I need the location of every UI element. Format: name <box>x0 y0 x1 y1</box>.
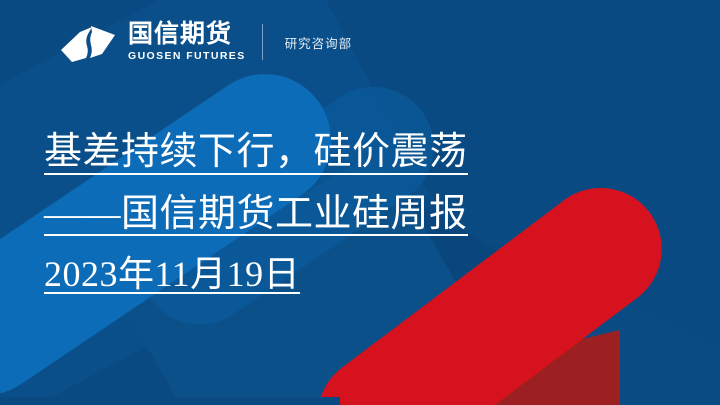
decorative-bar-red-dark <box>327 338 720 405</box>
report-cover-slide: 国信期货 GUOSEN FUTURES 研究咨询部 基差持续下行，硅价震荡 ——… <box>0 0 720 405</box>
report-title-line-1: 基差持续下行，硅价震荡 <box>44 122 468 184</box>
decorative-bottom-strip <box>0 397 340 405</box>
brand-name-cn: 国信期货 <box>128 22 246 47</box>
guosen-futures-logo-mark <box>58 18 118 66</box>
department-label: 研究咨询部 <box>285 33 353 52</box>
decorative-wedge-red-dark-left <box>290 330 620 405</box>
report-date: 2023年11月19日 <box>44 245 300 303</box>
report-title-line-2: ——国信期货工业硅周报 <box>44 184 468 246</box>
brand-header: 国信期货 GUOSEN FUTURES 研究咨询部 <box>58 18 352 66</box>
brand-name-en: GUOSEN FUTURES <box>128 51 246 62</box>
brand-divider <box>262 24 263 60</box>
background-chevron-lower-right <box>424 250 720 405</box>
title-block: 基差持续下行，硅价震荡 ——国信期货工业硅周报 2023年11月19日 <box>44 122 468 303</box>
brand-wordmark: 国信期货 GUOSEN FUTURES <box>128 22 246 62</box>
